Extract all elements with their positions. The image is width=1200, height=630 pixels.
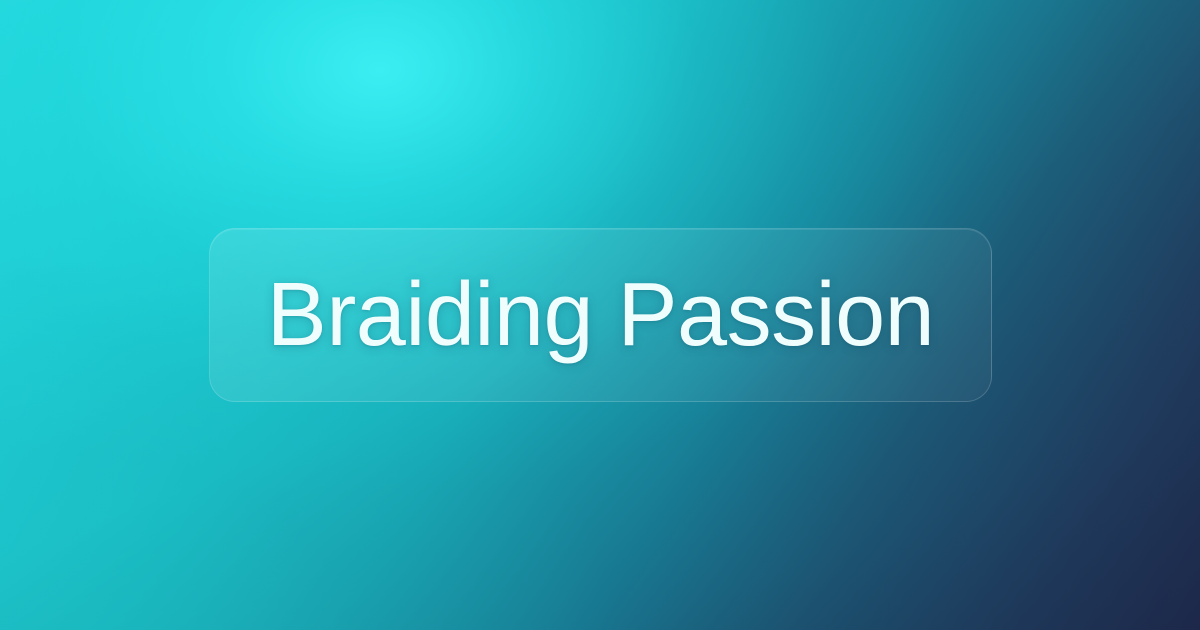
card-layer: Braiding Passion [0,0,1200,630]
page-title: Braiding Passion [267,270,934,360]
glass-title-card: Braiding Passion [209,228,992,402]
banner-root: Braiding Passion [0,0,1200,630]
